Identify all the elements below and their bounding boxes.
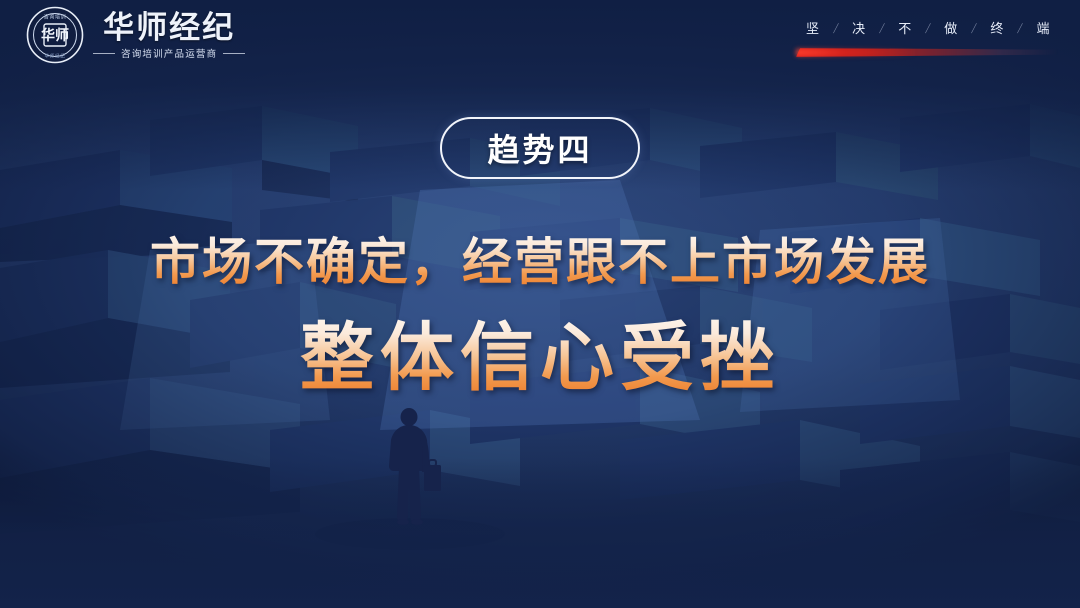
slogan-block: 坚 / 决 / 不 / 做 / 终 / 端 [796, 18, 1058, 58]
slogan-accent-bar [796, 48, 1058, 58]
brand-logo[interactable]: 华师 咨询培训 华师经纪 华师经纪 咨询培训产品运营商 [26, 6, 245, 64]
brand-name: 华师经纪 [103, 12, 235, 45]
slogan-char-4: 做 [944, 18, 958, 37]
brand-tagline: 咨询培训产品运营商 [121, 46, 217, 60]
seal-emblem-icon: 华师 咨询培训 华师经纪 [26, 6, 84, 64]
slogan-separator: / [924, 21, 932, 35]
slogan-separator: / [878, 21, 886, 35]
tagline-rule-right [223, 53, 245, 54]
trend-badge: 趋势四 [440, 117, 640, 179]
svg-text:华师: 华师 [41, 27, 69, 44]
slogan-char-2: 决 [852, 18, 866, 37]
maze-background [0, 0, 1080, 608]
slogan-separator: / [832, 21, 840, 35]
svg-text:华师经纪: 华师经纪 [45, 53, 66, 60]
slide-root: 华师 咨询培训 华师经纪 华师经纪 咨询培训产品运营商 坚 / 决 / 不 / … [0, 0, 1080, 608]
slogan-text: 坚 / 决 / 不 / 做 / 终 / 端 [796, 18, 1058, 37]
trend-badge-label: 趋势四 [487, 125, 592, 171]
slogan-separator: / [970, 21, 978, 35]
slogan-char-5: 终 [990, 18, 1004, 37]
slogan-separator: / [1016, 21, 1024, 35]
slogan-char-1: 坚 [806, 18, 820, 37]
businessman-silhouette-icon [371, 408, 451, 540]
svg-text:咨询培训: 咨询培训 [44, 14, 66, 21]
slogan-char-3: 不 [898, 18, 912, 37]
slogan-char-6: 端 [1036, 18, 1050, 37]
tagline-rule-left [93, 53, 115, 54]
